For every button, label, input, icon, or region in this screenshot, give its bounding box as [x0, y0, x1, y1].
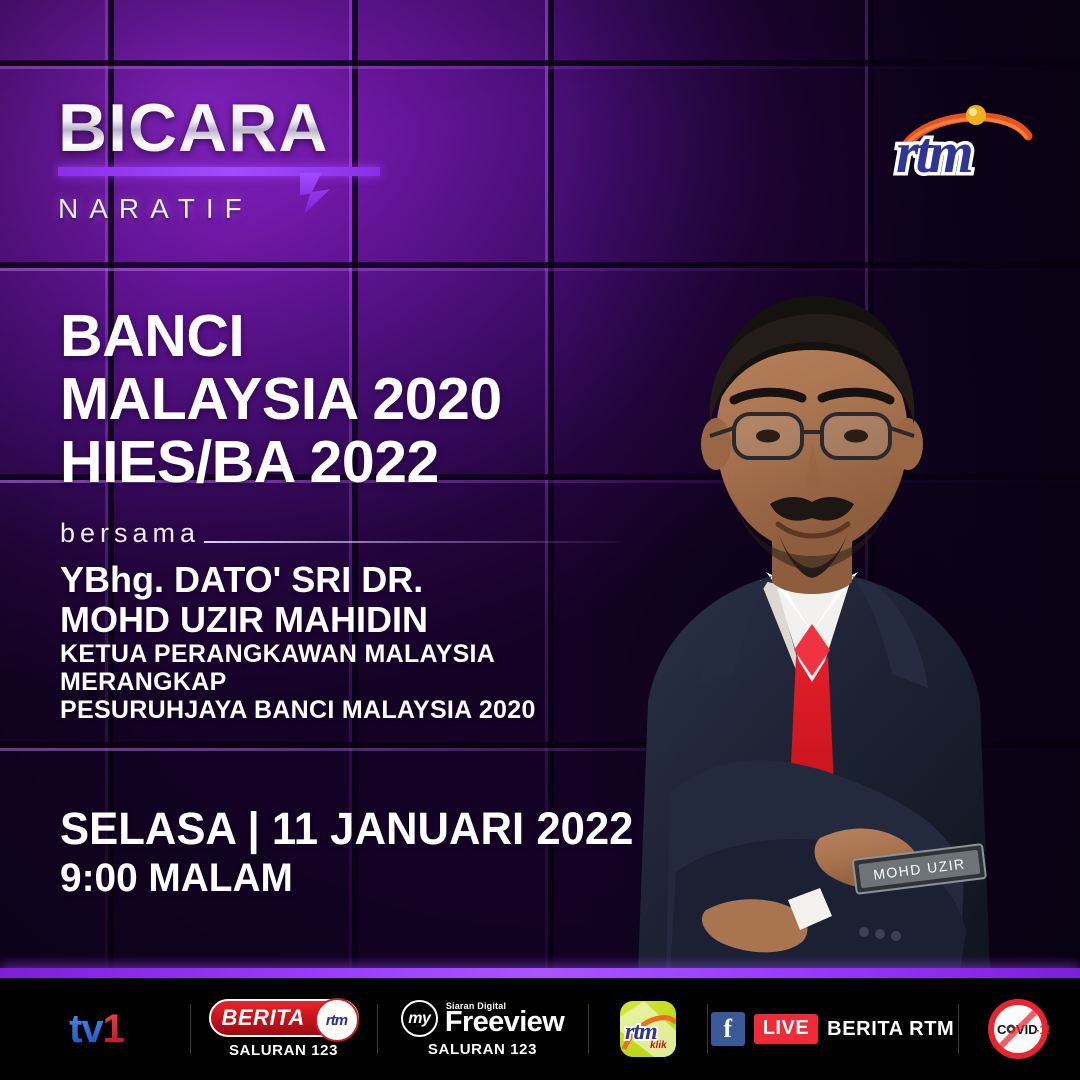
guest-role: KETUA PERANGKAWAN MALAYSIA MERANGKAP PES…: [60, 640, 660, 724]
facebook-live-badge[interactable]: f LIVE BERITA RTM: [708, 978, 958, 1080]
berita-rtm-emblem: rtm: [315, 998, 359, 1042]
berita-channel: SALURAN 123: [229, 1042, 338, 1059]
berita-rtm-mark: rtm: [326, 1012, 347, 1029]
tv1-logo-one: 1: [103, 1007, 124, 1051]
guest-role-line-2: MERANGKAP: [60, 668, 660, 696]
svg-text:rtm: rtm: [896, 120, 972, 182]
myfreeview-my-label: my: [408, 1010, 430, 1028]
facebook-page-name: BERITA RTM: [827, 1018, 954, 1041]
guest-role-line-1: KETUA PERANGKAWAN MALAYSIA: [60, 640, 660, 668]
bersama-label: bersama: [60, 518, 200, 549]
myfreeview-logo: my Siaran Digital Freeview SALURAN 123: [378, 978, 588, 1080]
guest-name-line-1: YBhg. DATO' SRI DR.: [60, 560, 640, 600]
show-logo-bar: [58, 165, 388, 179]
headline-line-1: BANCI: [60, 305, 660, 368]
rtm-klik-app-icon: rtm rtm klik: [589, 978, 707, 1080]
guest-role-line-3: PESURUHJAYA BANCI MALAYSIA 2020: [60, 696, 660, 724]
myfreeview-my-icon: my: [401, 1000, 438, 1037]
tv1-logo-tv: tv: [69, 1007, 103, 1051]
schedule-time: 9:00 MALAM: [60, 854, 681, 902]
tv1-logo: tv1: [4, 978, 190, 1080]
covid-prohibition-icon: C VID -19: [959, 978, 1077, 1080]
myfreeview-channel: SALURAN 123: [428, 1041, 537, 1058]
facebook-icon[interactable]: f: [711, 1012, 745, 1046]
schedule: SELASA | 11 JANUARI 2022 9:00 MALAM: [60, 804, 700, 902]
headline-line-2: MALAYSIA 2020: [60, 368, 660, 431]
covid-text-part1: C: [997, 1022, 1007, 1037]
guest-name: YBhg. DATO' SRI DR. MOHD UZIR MAHIDIN: [60, 560, 640, 639]
bersama-row: bersama: [60, 518, 620, 549]
show-title: BICARA: [58, 96, 388, 161]
footer-logo-bar: tv1 BERITA rtm SALURAN 123 my: [0, 978, 1080, 1080]
show-subtitle: NARATIF: [58, 193, 388, 225]
rtm-klik-sub: klik: [650, 1040, 667, 1051]
myfreeview-label: Freeview: [445, 1008, 564, 1037]
berita-rtm-logo: BERITA rtm SALURAN 123: [191, 978, 377, 1080]
live-badge: LIVE: [754, 1014, 818, 1044]
rtm-logo: rtm rtm: [888, 96, 1038, 182]
footer-divider: [0, 968, 1080, 978]
headline-line-3: HIES/BA 2022: [60, 431, 660, 494]
page-title: BANCI MALAYSIA 2020 HIES/BA 2022: [60, 305, 660, 494]
covid-text-part3: -19: [1035, 1022, 1049, 1037]
promo-poster: BICARA NARATIF rtm rtm: [0, 0, 1080, 1080]
guest-name-line-2: MOHD UZIR MAHIDIN: [60, 600, 640, 640]
bersama-rule: [204, 541, 620, 543]
schedule-date: SELASA | 11 JANUARI 2022: [60, 804, 681, 854]
show-logo: BICARA NARATIF: [58, 96, 388, 225]
berita-label: BERITA: [222, 1005, 305, 1031]
